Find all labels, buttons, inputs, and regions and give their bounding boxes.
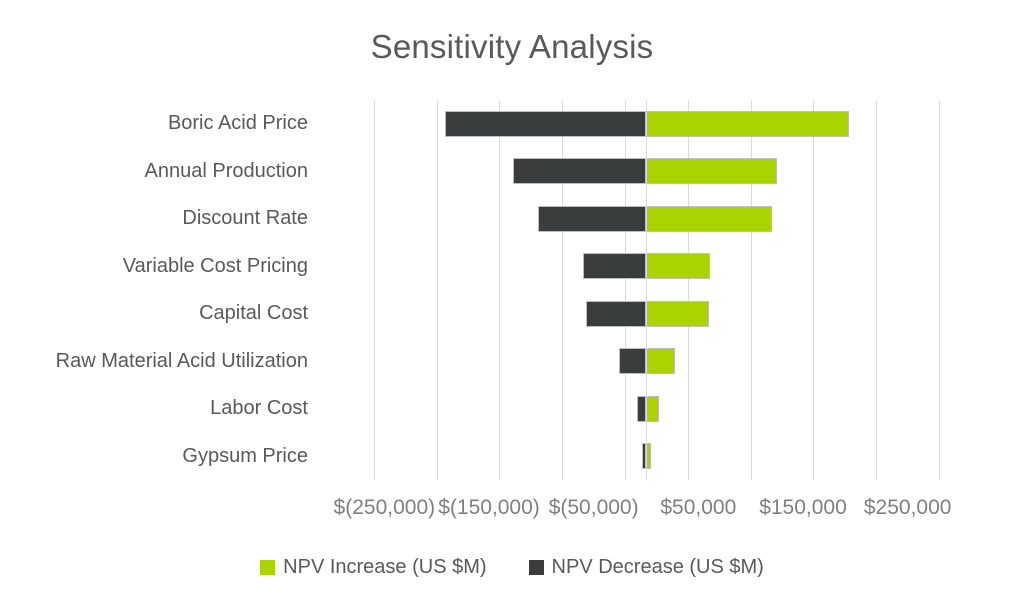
x-axis-tick-label: $250,000	[864, 496, 952, 520]
legend-swatch-decrease-icon	[529, 560, 544, 575]
chart-legend: NPV Increase (US $M) NPV Decrease (US $M…	[0, 556, 1024, 579]
plot-area	[332, 100, 960, 480]
y-axis-label-boric-acid-price: Boric Acid Price	[0, 100, 320, 148]
bar-increase[interactable]	[646, 111, 849, 137]
bar-increase[interactable]	[646, 158, 777, 184]
bar-decrease[interactable]	[586, 301, 646, 327]
bar-decrease[interactable]	[538, 206, 646, 232]
x-axis-tick-label: $50,000	[660, 496, 736, 520]
y-axis-label-gypsum-price: Gypsum Price	[0, 433, 320, 481]
legend-item-npv-decrease[interactable]: NPV Decrease (US $M)	[529, 556, 764, 579]
bar-increase[interactable]	[646, 301, 709, 327]
y-axis-label-variable-cost-pricing: Variable Cost Pricing	[0, 243, 320, 291]
x-axis-tick-label: $(250,000)	[334, 496, 436, 520]
bar-increase[interactable]	[646, 396, 659, 422]
bar-increase[interactable]	[646, 253, 710, 279]
zero-axis-line	[646, 100, 647, 480]
y-axis-label-discount-rate: Discount Rate	[0, 195, 320, 243]
bar-decrease[interactable]	[637, 396, 646, 422]
bar-decrease[interactable]	[619, 348, 646, 374]
legend-label-npv-increase: NPV Increase (US $M)	[283, 556, 486, 579]
x-axis-tick-label: $150,000	[759, 496, 847, 520]
bar-decrease[interactable]	[583, 253, 646, 279]
chart-title: Sensitivity Analysis	[0, 28, 1024, 66]
bar-increase[interactable]	[646, 206, 772, 232]
bar-decrease[interactable]	[445, 111, 646, 137]
y-axis-label-raw-material-acid-utilization: Raw Material Acid Utilization	[0, 338, 320, 386]
x-axis-tick-label: $(150,000)	[438, 496, 540, 520]
y-axis-category-labels: Boric Acid Price Annual Production Disco…	[0, 100, 320, 480]
x-axis-tick-labels: $(250,000)$(150,000)$(50,000)$50,000$150…	[332, 496, 960, 530]
y-axis-label-annual-production: Annual Production	[0, 148, 320, 196]
bar-decrease[interactable]	[513, 158, 646, 184]
legend-swatch-increase-icon	[260, 560, 275, 575]
y-axis-label-labor-cost: Labor Cost	[0, 385, 320, 433]
legend-label-npv-decrease: NPV Decrease (US $M)	[552, 556, 764, 579]
y-axis-label-capital-cost: Capital Cost	[0, 290, 320, 338]
x-axis-tick-label: $(50,000)	[549, 496, 639, 520]
sensitivity-analysis-chart: Sensitivity Analysis Boric Acid Price An…	[0, 0, 1024, 614]
bar-increase[interactable]	[646, 348, 675, 374]
legend-item-npv-increase[interactable]: NPV Increase (US $M)	[260, 556, 486, 579]
